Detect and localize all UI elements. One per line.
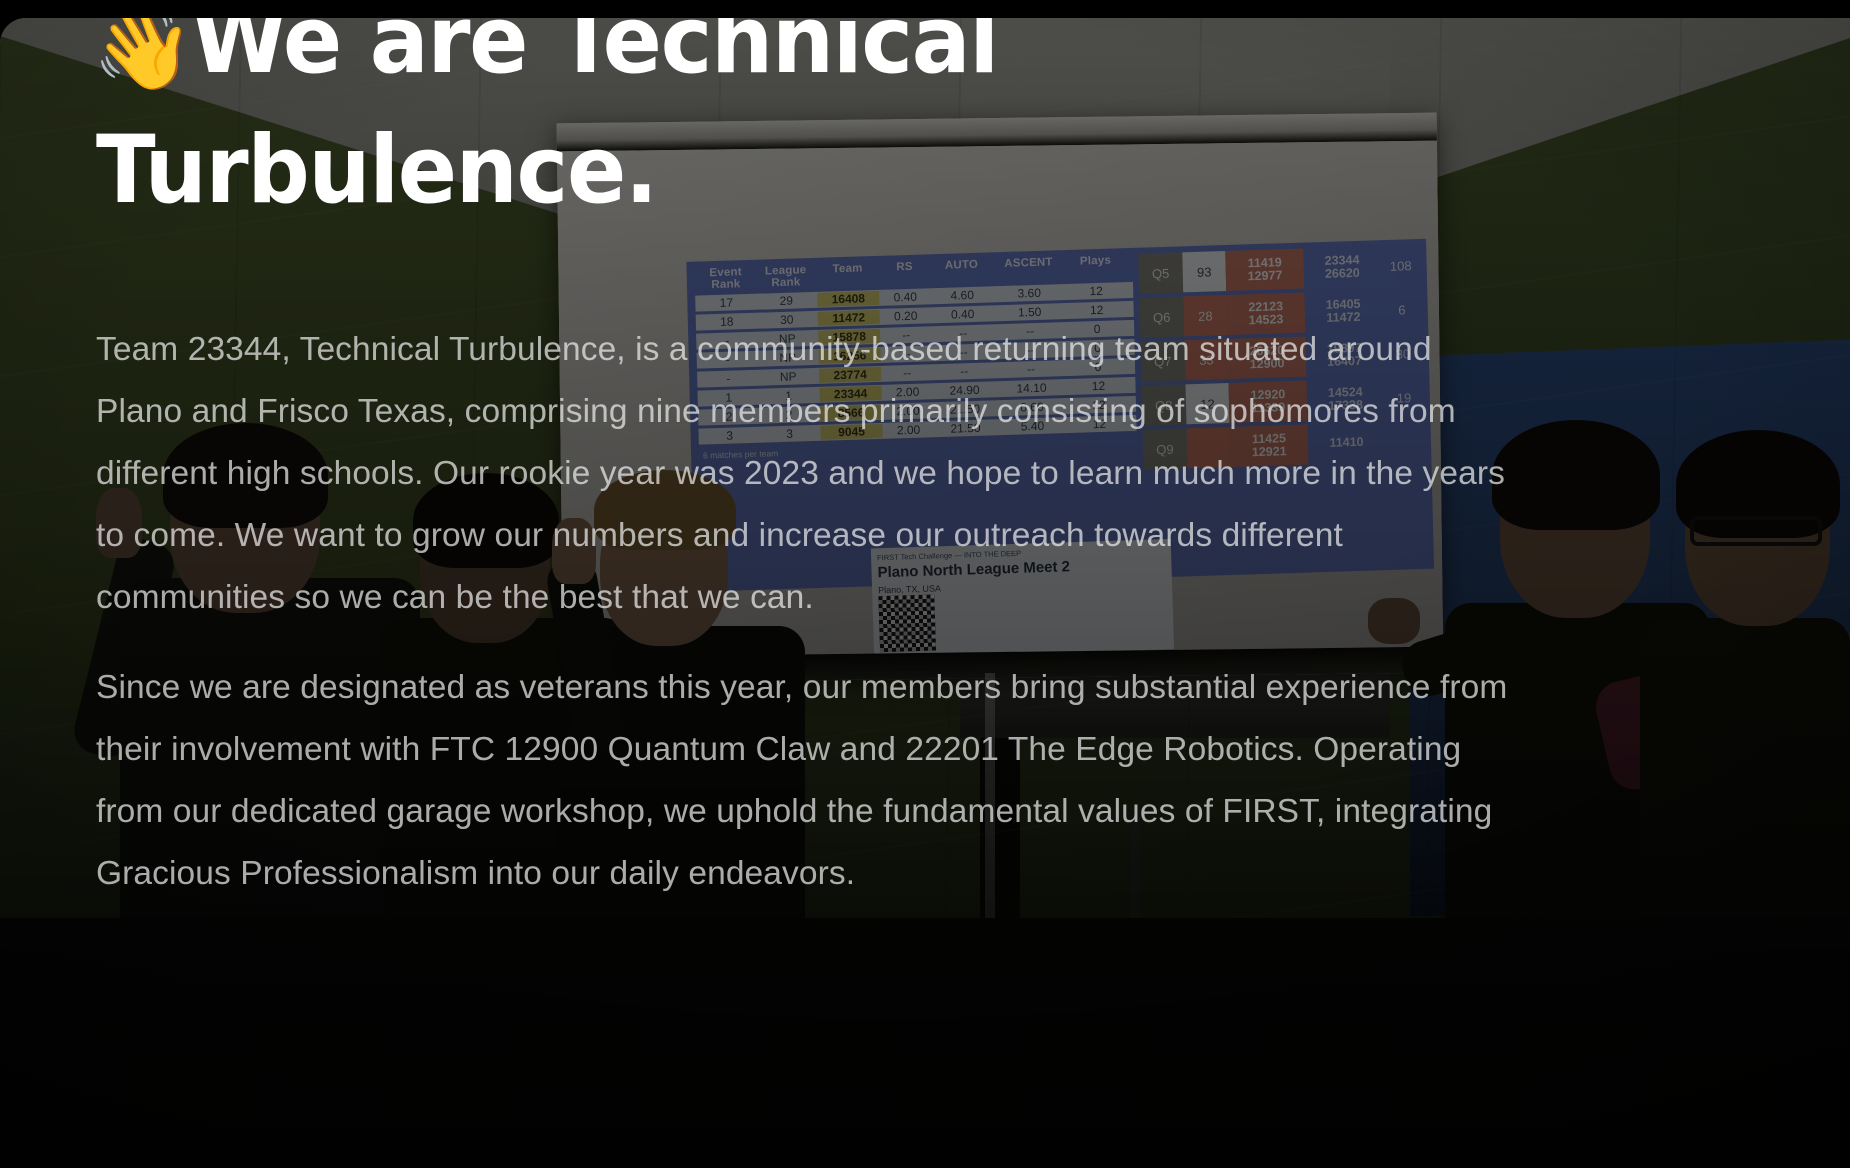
waving-hand-icon: 👋: [92, 18, 195, 105]
hero-body: Team 23344, Technical Turbulence, is a c…: [96, 319, 1526, 905]
floor: [0, 918, 1850, 1168]
hero-section: Event Rank League Rank Team RS AUTO ASCE…: [0, 18, 1850, 1168]
page-title: 👋We are Technical Turbulence.: [96, 18, 1324, 235]
hero-paragraph-1: Team 23344, Technical Turbulence, is a c…: [96, 319, 1526, 629]
page-frame: Event Rank League Rank Team RS AUTO ASCE…: [0, 0, 1850, 1168]
hero-paragraph-2: Since we are designated as veterans this…: [96, 657, 1526, 905]
page-title-text: We are Technical Turbulence.: [96, 18, 998, 225]
hero-content: 👋We are Technical Turbulence. Team 23344…: [0, 18, 1850, 905]
